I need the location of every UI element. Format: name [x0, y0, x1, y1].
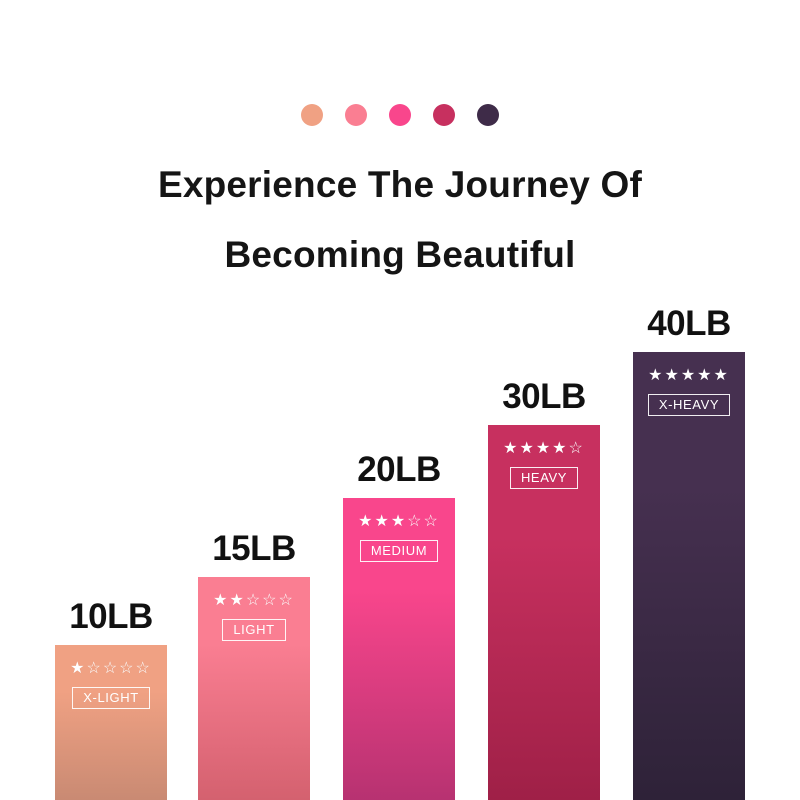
bar-value-label: 15LB [212, 529, 296, 569]
bar-group-x-heavy[interactable]: 40LB★★★★★X-HEAVY [633, 352, 745, 800]
bar-heavy[interactable]: ★★★★☆HEAVY [488, 425, 600, 800]
star-rating: ★★★★☆ [503, 441, 585, 457]
resistance-level-badge: LIGHT [222, 619, 285, 641]
bar-value-label: 30LB [502, 377, 586, 417]
resistance-level-badge: HEAVY [510, 467, 578, 489]
bar-group-heavy[interactable]: 30LB★★★★☆HEAVY [488, 425, 600, 800]
star-rating: ★★★★★ [648, 368, 730, 384]
bar-light[interactable]: ★★☆☆☆LIGHT [198, 577, 310, 800]
bar-medium[interactable]: ★★★☆☆MEDIUM [343, 498, 455, 800]
bar-x-heavy[interactable]: ★★★★★X-HEAVY [633, 352, 745, 800]
bar-group-medium[interactable]: 20LB★★★☆☆MEDIUM [343, 498, 455, 800]
resistance-level-badge: X-LIGHT [72, 687, 149, 709]
bar-value-label: 20LB [357, 450, 441, 490]
star-rating: ★☆☆☆☆ [70, 661, 152, 677]
star-rating: ★★★☆☆ [358, 514, 440, 530]
bar-x-light[interactable]: ★☆☆☆☆X-LIGHT [55, 645, 167, 800]
star-rating: ★★☆☆☆ [213, 593, 295, 609]
bar-group-light[interactable]: 15LB★★☆☆☆LIGHT [198, 577, 310, 800]
resistance-level-badge: MEDIUM [360, 540, 438, 562]
bar-group-x-light[interactable]: 10LB★☆☆☆☆X-LIGHT [55, 645, 167, 800]
resistance-level-badge: X-HEAVY [648, 394, 730, 416]
resistance-band-bar-chart: 10LB★☆☆☆☆X-LIGHT15LB★★☆☆☆LIGHT20LB★★★☆☆M… [0, 0, 800, 800]
bar-value-label: 10LB [69, 597, 153, 637]
bar-value-label: 40LB [647, 304, 731, 344]
